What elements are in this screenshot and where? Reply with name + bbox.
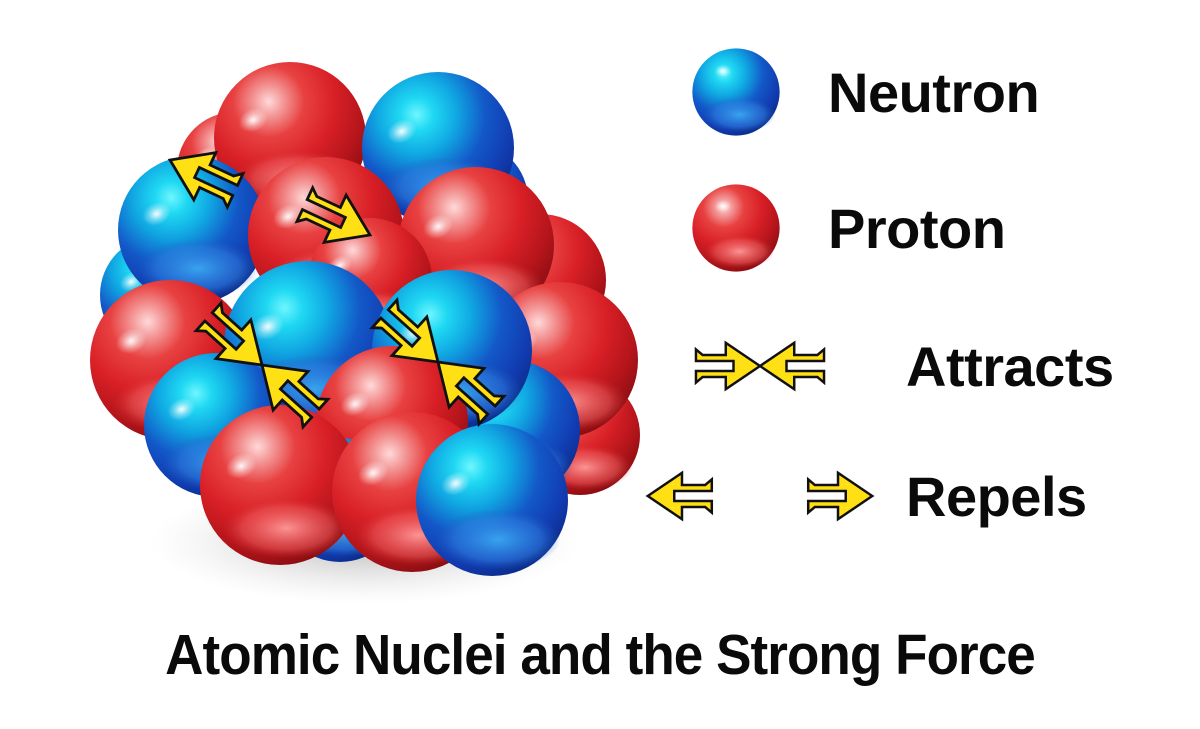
legend-item-repels: Repels [640, 436, 1087, 556]
page-title: Atomic Nuclei and the Strong Force [42, 622, 1158, 688]
legend-item-proton: Proton [688, 168, 1005, 288]
legend-item-neutron: Neutron [688, 32, 1039, 152]
legend-label-attracts: Attracts [906, 334, 1114, 399]
legend-item-attracts: Attracts [640, 306, 1114, 426]
legend-label-neutron: Neutron [828, 60, 1039, 125]
proton-sphere-icon [688, 180, 784, 276]
neutron-sphere-icon [688, 44, 784, 140]
arrows-outward-icon [640, 450, 880, 542]
nucleus-illustration [40, 30, 640, 620]
legend-label-repels: Repels [906, 464, 1087, 529]
particle-cluster [90, 62, 640, 576]
legend-label-proton: Proton [828, 196, 1005, 261]
diagram-canvas: Neutron Proton Attracts [0, 0, 1200, 729]
neutron-particle [416, 424, 568, 576]
legend: Neutron Proton Attracts [640, 28, 1180, 568]
arrows-inward-icon [640, 320, 880, 412]
